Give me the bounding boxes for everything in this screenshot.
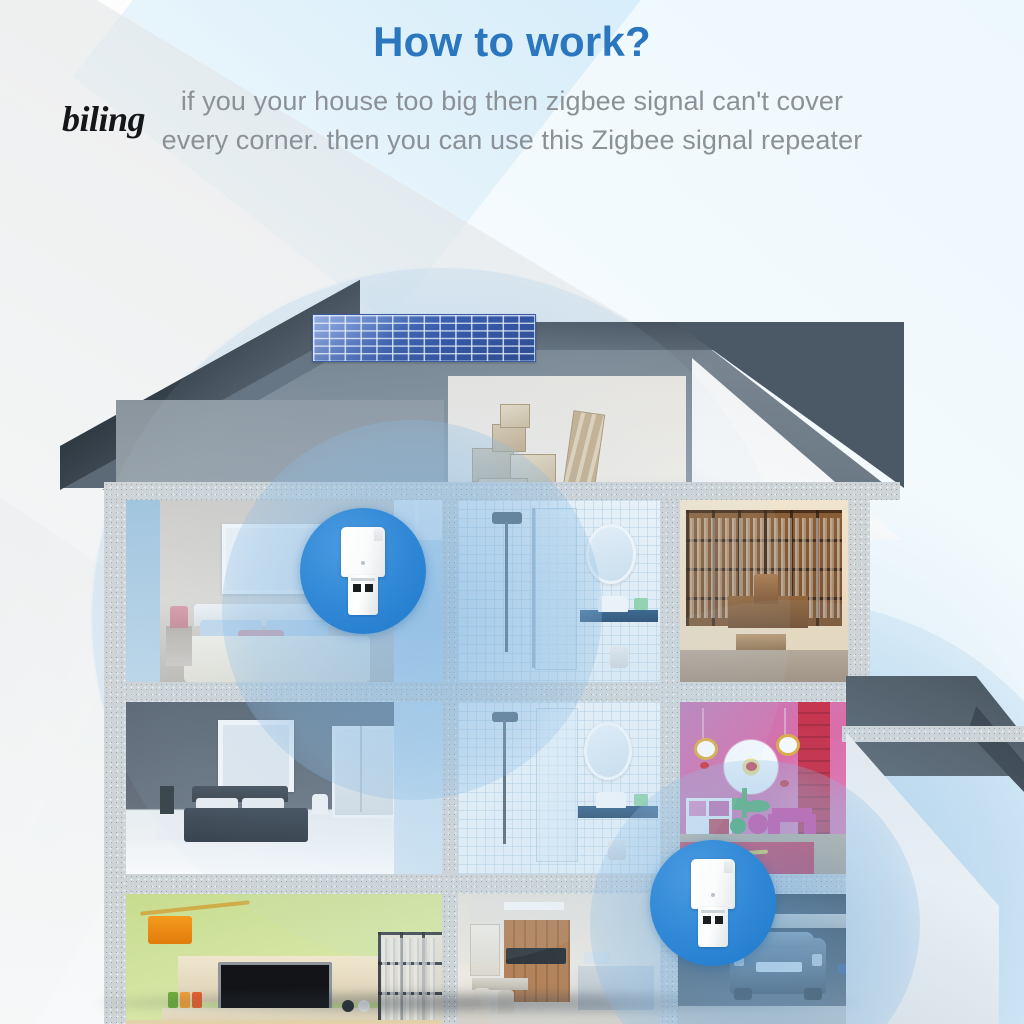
stool: [608, 840, 626, 860]
room-library-study: [680, 500, 848, 682]
curtain: [126, 500, 160, 682]
wing-ceiling-slab: [842, 726, 1024, 742]
sink-basin: [598, 596, 628, 612]
interior-wall-right-upper: [660, 500, 680, 874]
zigbee-repeater-device: [687, 859, 739, 947]
box: [472, 448, 514, 482]
interior-wall-middle: [442, 702, 458, 874]
nightstand: [156, 814, 182, 840]
pink-ball: [748, 814, 768, 834]
usb-connector-icon: [698, 907, 728, 947]
plant: [634, 598, 648, 610]
room-second-bedroom: [126, 702, 394, 874]
bedroom-floor: [126, 842, 394, 874]
second-floor-slab: [104, 682, 864, 702]
oven: [506, 948, 566, 964]
oval-mirror: [584, 722, 632, 780]
usb-pin: [365, 584, 373, 592]
repeater-led-icon: [361, 561, 365, 565]
subtitle-line-2: every corner. then you can use this Zigb…: [0, 121, 1024, 160]
repeater-body: [341, 527, 385, 577]
house-drop-shadow: [100, 990, 860, 1016]
living-room-floor: [126, 1020, 442, 1024]
exterior-wall-left: [104, 500, 126, 1024]
tail-light: [812, 954, 822, 966]
ladybug: [780, 780, 789, 787]
coffee-table: [736, 634, 786, 650]
usb-slot: [351, 578, 375, 581]
shower-glass: [536, 708, 578, 862]
repeater-led-icon: [711, 893, 715, 897]
usb-slot: [701, 910, 725, 913]
pendant-lamp: [776, 734, 800, 756]
shower-pipe: [503, 720, 506, 844]
solar-panel: [312, 314, 536, 362]
pendant-lamp: [694, 738, 718, 760]
repeater-notch: [724, 861, 733, 873]
cutaway-house-illustration: [60, 296, 990, 1016]
lamp: [160, 786, 174, 814]
header: How to work? if you your house too big t…: [0, 0, 1024, 161]
pendant-cord: [784, 708, 786, 736]
ladybug: [700, 762, 709, 769]
desk-chair: [754, 574, 778, 604]
daisy-leaf: [746, 800, 770, 812]
subtitle-line-1: if you your house too big then zigbee si…: [0, 82, 1024, 121]
oval-mirror: [586, 524, 636, 584]
stool: [610, 646, 628, 668]
box: [492, 424, 526, 452]
open-shelving: [470, 924, 500, 976]
repeater-notch: [374, 529, 383, 541]
shower-pipe: [505, 522, 508, 652]
license-plate: [756, 962, 802, 972]
nightstand: [166, 626, 192, 666]
interior-wall-upper: [442, 500, 458, 682]
solar-panel-sheen: [313, 315, 535, 361]
garage-wing: [846, 676, 1024, 1024]
study-floor: [680, 650, 848, 682]
usb-connector-icon: [348, 575, 378, 615]
room-lower-bathroom: [458, 702, 660, 874]
green-ball: [730, 818, 746, 834]
roof-base-slab: [104, 482, 900, 500]
repeater-badge-upstairs[interactable]: [300, 508, 426, 634]
kids-chair: [804, 814, 816, 834]
bed: [184, 636, 370, 682]
repeater-badge-downstairs[interactable]: [650, 840, 776, 966]
orange-lamp-shade: [148, 916, 192, 944]
plant: [634, 794, 648, 806]
repeater-body: [691, 859, 735, 909]
box: [500, 404, 530, 428]
table-lamp: [170, 606, 188, 628]
bed: [184, 808, 308, 842]
ladybug: [746, 762, 757, 771]
sink-basin: [596, 792, 626, 808]
page-subtitle: if you your house too big then zigbee si…: [0, 66, 1024, 160]
wardrobe-divider: [360, 726, 362, 812]
framed-picture: [218, 720, 294, 792]
wardrobe-doors: [332, 726, 394, 818]
infographic-canvas: How to work? if you your house too big t…: [0, 0, 1024, 1024]
shower-glass: [535, 508, 577, 670]
watermark-text: biling: [62, 98, 145, 140]
kitchen-floor: [458, 1016, 660, 1024]
usb-pin: [703, 916, 711, 924]
ceiling-light-strip: [504, 902, 564, 910]
pendant-cord: [702, 708, 704, 740]
kids-chair: [768, 814, 780, 834]
page-title: How to work?: [0, 0, 1024, 66]
room-upper-bathroom: [458, 500, 660, 682]
decor-figure: [312, 794, 328, 814]
usb-pin: [353, 584, 361, 592]
usb-pin: [715, 916, 723, 924]
zigbee-repeater-device: [337, 527, 389, 615]
counter-items: [584, 952, 610, 964]
